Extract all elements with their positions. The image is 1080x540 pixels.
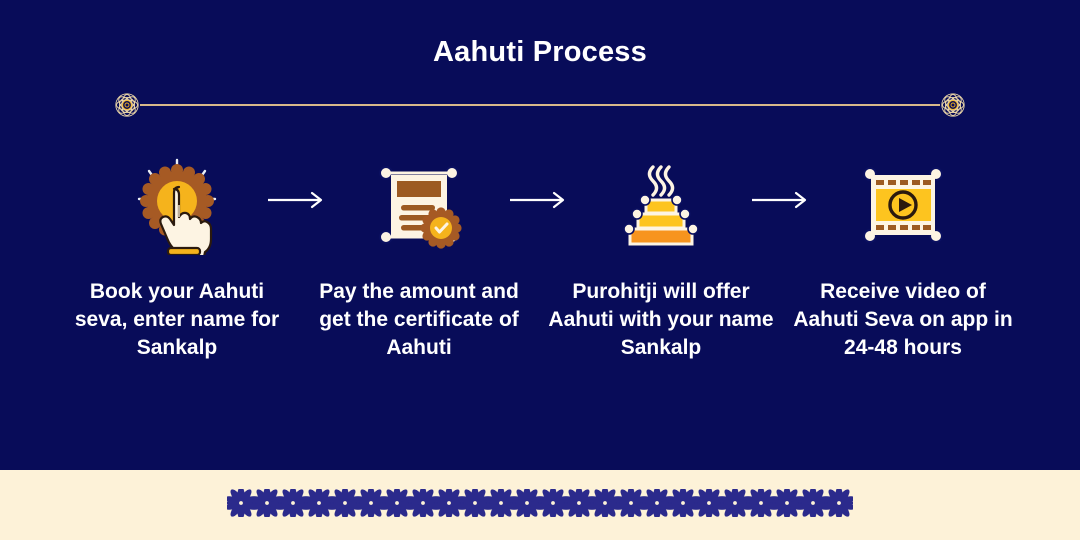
flower-motif-icon [305, 489, 333, 522]
flower-motif-icon [721, 489, 749, 522]
mandala-rosette-icon-left [110, 88, 144, 122]
footer-flower-row [0, 470, 1080, 540]
mandala-rosette-icon-right [936, 88, 970, 122]
flower-motif-icon [669, 489, 697, 522]
flower-motif-icon [643, 489, 671, 522]
flower-motif-icon [825, 489, 853, 522]
process-step-2-caption: Pay the amount and get the certificate o… [305, 278, 533, 362]
flower-motif-icon [331, 489, 359, 522]
havan-kund-fire-altar-icon [611, 150, 711, 260]
certificate-seal-icon [369, 150, 469, 260]
flower-motif-icon [565, 489, 593, 522]
hand-tap-badge-icon [127, 150, 227, 260]
flower-motif-icon [435, 489, 463, 522]
flower-motif-icon [409, 489, 437, 522]
flower-motif-icon [747, 489, 775, 522]
process-step-3[interactable]: Purohitji will offer Aahuti with your na… [547, 150, 775, 362]
footer-band [0, 470, 1080, 540]
flower-motif-icon [799, 489, 827, 522]
process-step-3-caption: Purohitji will offer Aahuti with your na… [547, 278, 775, 362]
process-step-1-caption: Book your Aahuti seva, enter name for Sa… [63, 278, 291, 362]
flower-motif-icon [461, 489, 489, 522]
flower-motif-icon [383, 489, 411, 522]
flower-motif-icon [227, 489, 255, 522]
process-step-1[interactable]: Book your Aahuti seva, enter name for Sa… [63, 150, 291, 362]
video-play-film-icon [853, 150, 953, 260]
process-step-list: Book your Aahuti seva, enter name for Sa… [0, 150, 1080, 390]
arrow-right-icon-1 [291, 150, 305, 210]
process-step-4-caption: Receive video of Aahuti Seva on app in 2… [789, 278, 1017, 362]
flower-motif-icon [773, 489, 801, 522]
decorative-divider [110, 88, 970, 122]
divider-line [140, 104, 940, 106]
flower-motif-icon [695, 489, 723, 522]
flower-motif-icon [617, 489, 645, 522]
process-step-4[interactable]: Receive video of Aahuti Seva on app in 2… [789, 150, 1017, 362]
flower-motif-icon [513, 489, 541, 522]
flower-motif-icon [253, 489, 281, 522]
infographic-canvas: Aahuti Process [0, 0, 1080, 540]
flower-motif-icon [591, 489, 619, 522]
process-step-2[interactable]: Pay the amount and get the certificate o… [305, 150, 533, 362]
arrow-right-icon-3 [775, 150, 789, 210]
flower-motif-icon [539, 489, 567, 522]
page-title: Aahuti Process [0, 36, 1080, 69]
flower-motif-icon [279, 489, 307, 522]
flower-motif-icon [487, 489, 515, 522]
flower-motif-icon [357, 489, 385, 522]
arrow-right-icon-2 [533, 150, 547, 210]
